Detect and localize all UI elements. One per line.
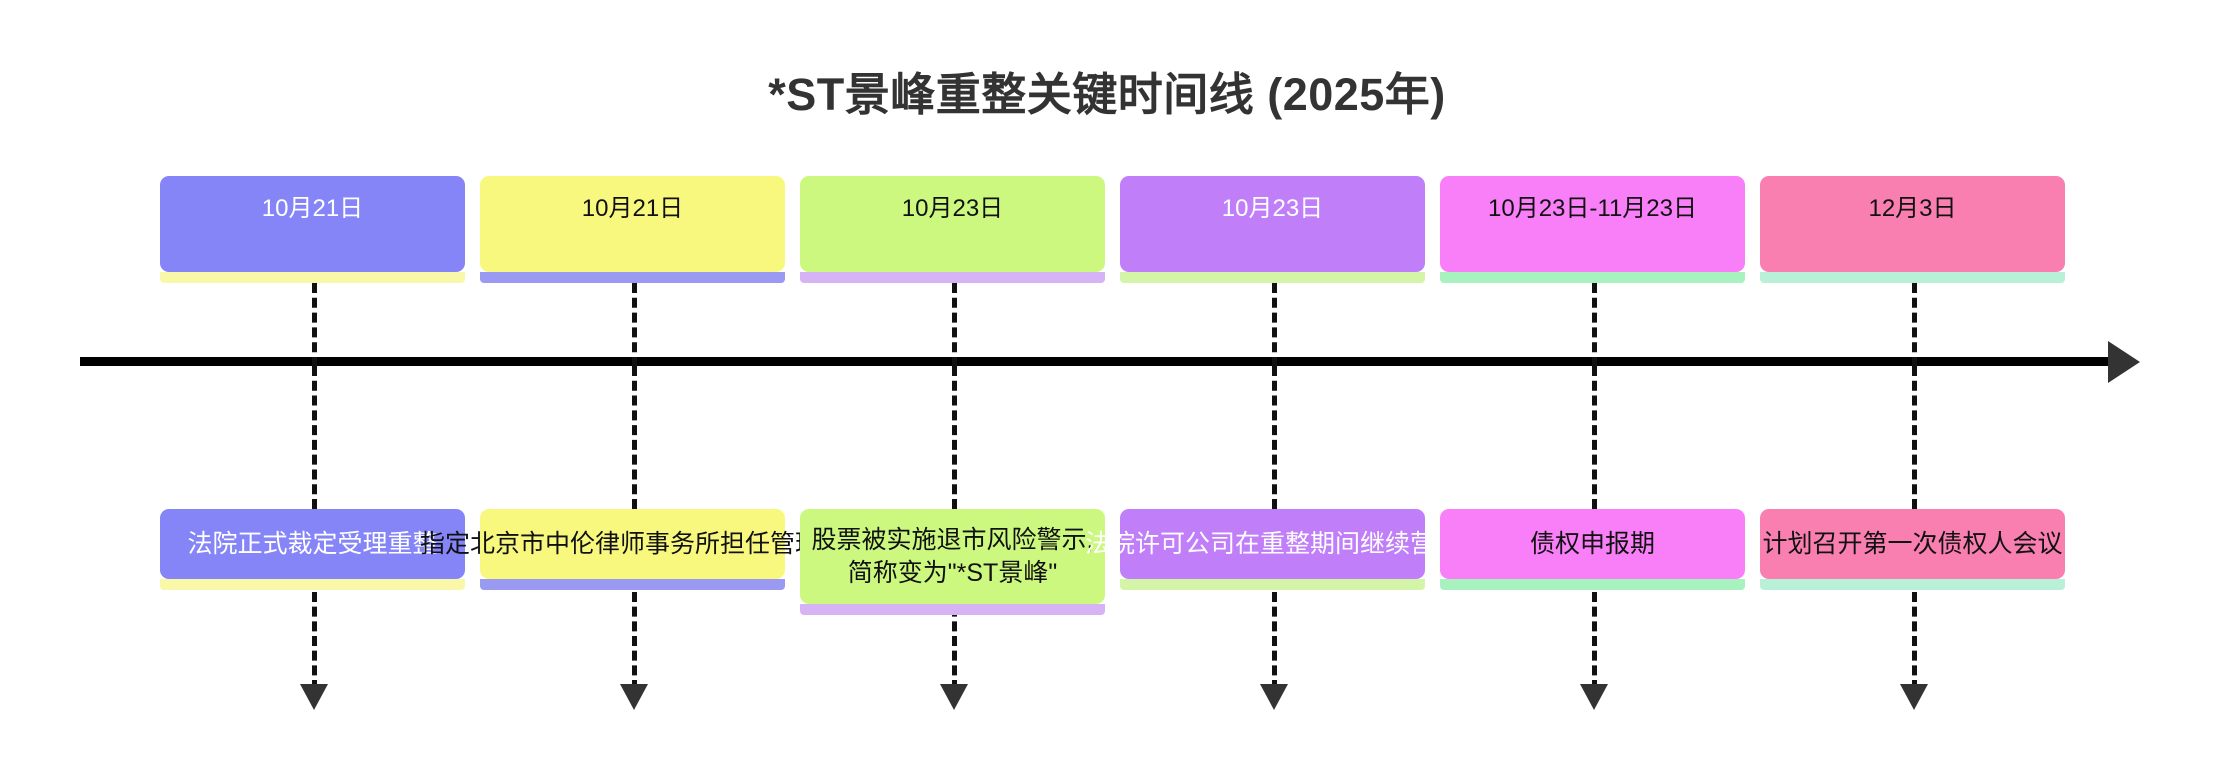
description-card-underline bbox=[480, 579, 785, 590]
date-card-underline bbox=[480, 272, 785, 283]
timeline-date-card[interactable]: 12月3日 bbox=[1760, 176, 2065, 272]
timeline-connector-arrow-icon bbox=[1900, 684, 1928, 710]
timeline-date-label: 10月23日-11月23日 bbox=[1440, 197, 1745, 221]
description-card-underline bbox=[1760, 579, 2065, 590]
timeline-date-card[interactable]: 10月23日 bbox=[1120, 176, 1425, 272]
timeline-description-label: 计划召开第一次债权人会议 bbox=[1760, 528, 2065, 561]
timeline-date-card[interactable]: 10月23日-11月23日 bbox=[1440, 176, 1745, 272]
timeline-connector-mid bbox=[312, 366, 317, 509]
timeline-date-label: 10月21日 bbox=[160, 197, 465, 221]
date-card-underline bbox=[1440, 272, 1745, 283]
timeline-description-card[interactable]: 股票被实施退市风险警示,简称变为"*ST景峰" bbox=[800, 509, 1105, 604]
description-card-underline bbox=[160, 579, 465, 590]
timeline-connector-arrow-icon bbox=[1260, 684, 1288, 710]
timeline-description-card[interactable]: 债权申报期 bbox=[1440, 509, 1745, 579]
timeline-date-label: 10月21日 bbox=[480, 197, 785, 221]
date-card-underline bbox=[160, 272, 465, 283]
timeline-description-label: 法院许可公司在重整期间继续营业 bbox=[1085, 528, 1460, 561]
timeline-date-label: 12月3日 bbox=[1760, 197, 2065, 221]
timeline-connector-arrow-icon bbox=[1580, 684, 1608, 710]
timeline-description-card[interactable]: 法院许可公司在重整期间继续营业 bbox=[1120, 509, 1425, 579]
timeline-connector-mid bbox=[952, 366, 957, 509]
description-card-underline bbox=[1120, 579, 1425, 590]
timeline-connector-top bbox=[952, 283, 957, 367]
timeline-connector-top bbox=[1272, 283, 1277, 367]
timeline-connector-bottom bbox=[1272, 592, 1277, 690]
timeline-connector-arrow-icon bbox=[620, 684, 648, 710]
timeline-connector-top bbox=[312, 283, 317, 367]
timeline-connector-mid bbox=[1592, 366, 1597, 509]
page-title: *ST景峰重整关键时间线 (2025年) bbox=[0, 58, 2214, 123]
timeline-connector-top bbox=[632, 283, 637, 367]
timeline-connector-bottom bbox=[312, 592, 317, 690]
timeline-connector-mid bbox=[632, 366, 637, 509]
date-card-underline bbox=[800, 272, 1105, 283]
timeline-connector-arrow-icon bbox=[300, 684, 328, 710]
timeline-axis-arrow-icon bbox=[2108, 341, 2140, 383]
timeline-date-card[interactable]: 10月23日 bbox=[800, 176, 1105, 272]
date-card-underline bbox=[1760, 272, 2065, 283]
timeline-connector-bottom bbox=[632, 592, 637, 690]
timeline-connector-top bbox=[1592, 283, 1597, 367]
timeline-connector-mid bbox=[1272, 366, 1277, 509]
description-card-underline bbox=[1440, 579, 1745, 590]
timeline-date-card[interactable]: 10月21日 bbox=[480, 176, 785, 272]
timeline-connector-top bbox=[1912, 283, 1917, 367]
date-card-underline bbox=[1120, 272, 1425, 283]
timeline-description-label: 指定北京市中伦律师事务所担任管理人 bbox=[420, 528, 845, 561]
timeline-canvas: *ST景峰重整关键时间线 (2025年) 10月21日法院正式裁定受理重整10月… bbox=[0, 0, 2214, 768]
timeline-connector-bottom bbox=[1912, 592, 1917, 690]
timeline-date-label: 10月23日 bbox=[1120, 197, 1425, 221]
description-card-underline bbox=[800, 604, 1105, 615]
timeline-axis bbox=[80, 357, 2110, 366]
timeline-connector-bottom bbox=[1592, 592, 1597, 690]
timeline-connector-arrow-icon bbox=[940, 684, 968, 710]
timeline-date-card[interactable]: 10月21日 bbox=[160, 176, 465, 272]
timeline-description-card[interactable]: 计划召开第一次债权人会议 bbox=[1760, 509, 2065, 579]
timeline-description-label: 债权申报期 bbox=[1440, 528, 1745, 561]
timeline-date-label: 10月23日 bbox=[800, 197, 1105, 221]
timeline-connector-mid bbox=[1912, 366, 1917, 509]
timeline-description-card[interactable]: 指定北京市中伦律师事务所担任管理人 bbox=[480, 509, 785, 579]
timeline-description-label: 股票被实施退市风险警示,简称变为"*ST景峰" bbox=[800, 524, 1105, 590]
